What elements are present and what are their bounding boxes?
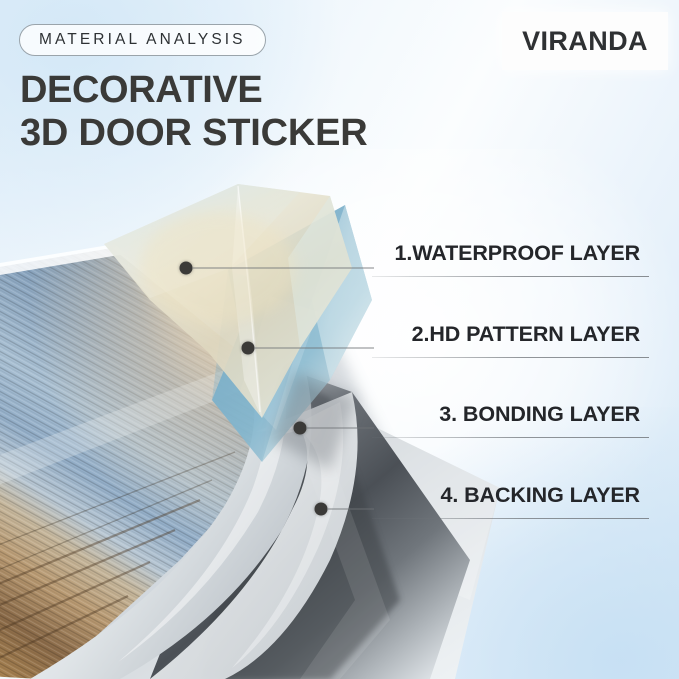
layer-label-3: 3. BONDING LAYER bbox=[439, 402, 640, 427]
layer-label-2: 2.HD PATTERN LAYER bbox=[412, 322, 640, 347]
eyebrow-badge: MATERIAL ANALYSIS bbox=[19, 24, 266, 56]
brand-name: VIRANDA bbox=[522, 26, 648, 57]
label-underline-1 bbox=[372, 276, 649, 277]
leader-line-4 bbox=[327, 509, 374, 510]
leader-line-2 bbox=[254, 348, 374, 349]
page-title-line-2: 3D DOOR STICKER bbox=[20, 112, 367, 155]
callout-dot-4 bbox=[315, 503, 328, 516]
label-underline-2 bbox=[372, 357, 649, 358]
layer-label-4: 4. BACKING LAYER bbox=[440, 483, 640, 508]
label-underline-4 bbox=[372, 518, 649, 519]
page-title: DECORATIVE 3D DOOR STICKER bbox=[20, 69, 367, 156]
layer-label-1: 1.WATERPROOF LAYER bbox=[395, 241, 640, 266]
brand-logo: VIRANDA bbox=[502, 12, 668, 70]
material-analysis-infographic: MATERIAL ANALYSIS DECORATIVE 3D DOOR STI… bbox=[0, 0, 679, 679]
leader-line-3 bbox=[306, 428, 374, 429]
leader-line-1 bbox=[192, 268, 374, 269]
callout-dot-1 bbox=[180, 262, 193, 275]
label-underline-3 bbox=[372, 437, 649, 438]
callout-dot-2 bbox=[242, 342, 255, 355]
page-title-line-1: DECORATIVE bbox=[20, 69, 367, 112]
eyebrow-text: MATERIAL ANALYSIS bbox=[39, 31, 246, 49]
callout-dot-3 bbox=[294, 422, 307, 435]
